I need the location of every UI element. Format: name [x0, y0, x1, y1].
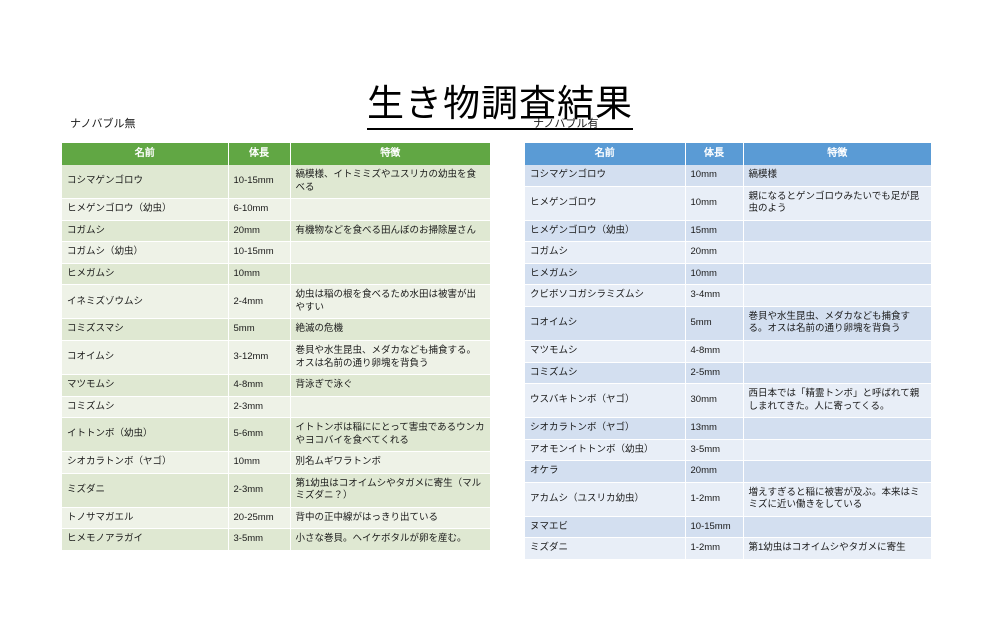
table-head: 名前 体長 特徴	[62, 143, 490, 165]
cell-feature: 増えすぎると稲に被害が及ぶ。本来はミミズに近い働きをしている	[743, 482, 931, 516]
column-header-size: 体長	[228, 143, 290, 165]
survey-table-with-nanobubble: 名前 体長 特徴 コシマゲンゴロウ10mm縞模様ヒメゲンゴロウ10mm親になると…	[525, 143, 931, 560]
column-header-feature: 特徴	[743, 143, 931, 165]
cell-size: 10mm	[685, 165, 743, 186]
cell-size: 10mm	[685, 186, 743, 220]
cell-name: ウスバキトンボ（ヤゴ）	[525, 384, 685, 418]
cell-name: クビボソコガシラミズムシ	[525, 285, 685, 307]
table-row: ヒメガムシ10mm	[525, 263, 931, 285]
cell-size: 13mm	[685, 418, 743, 440]
cell-feature: 西日本では「精霊トンボ」と呼ばれて親しまれてきた。人に寄ってくる。	[743, 384, 931, 418]
cell-size: 3-5mm	[685, 439, 743, 461]
table-row: ヒメゲンゴロウ（幼虫）6-10mm	[62, 199, 490, 221]
cell-size: 10-15mm	[685, 516, 743, 538]
column-header-name: 名前	[62, 143, 228, 165]
column-header-name: 名前	[525, 143, 685, 165]
cell-feature: 背泳ぎで泳ぐ	[290, 375, 490, 397]
cell-size: 10mm	[228, 452, 290, 474]
cell-size: 1-2mm	[685, 538, 743, 560]
cell-name: コオイムシ	[525, 306, 685, 340]
cell-name: コシマゲンゴロウ	[62, 165, 228, 199]
cell-name: シオカラトンボ（ヤゴ）	[62, 452, 228, 474]
cell-size: 20mm	[685, 242, 743, 264]
cell-size: 2-3mm	[228, 473, 290, 507]
cell-name: コシマゲンゴロウ	[525, 165, 685, 186]
table-row: イネミズゾウムシ2-4mm幼虫は稲の根を食べるため水田は被害が出やすい	[62, 285, 490, 319]
table-row: オケラ20mm	[525, 461, 931, 483]
cell-size: 20mm	[685, 461, 743, 483]
cell-size: 10mm	[228, 263, 290, 285]
cell-feature	[743, 461, 931, 483]
cell-name: コガムシ	[62, 220, 228, 242]
cell-name: コミズスマシ	[62, 319, 228, 341]
cell-size: 5-6mm	[228, 418, 290, 452]
table-row: マツモムシ4-8mm背泳ぎで泳ぐ	[62, 375, 490, 397]
cell-size: 5mm	[685, 306, 743, 340]
cell-feature	[290, 242, 490, 264]
cell-feature	[743, 285, 931, 307]
slide-canvas: 生き物調査結果 ナノバブル無 名前 体長 特徴 コシマゲンゴロウ10-15mm縞…	[0, 0, 1000, 620]
cell-size: 2-5mm	[685, 362, 743, 384]
cell-feature	[743, 242, 931, 264]
cell-size: 5mm	[228, 319, 290, 341]
table-row: トノサマガエル20-25mm背中の正中線がはっきり出ている	[62, 507, 490, 529]
cell-name: コオイムシ	[62, 340, 228, 374]
cell-size: 6-10mm	[228, 199, 290, 221]
cell-name: イトトンボ（幼虫）	[62, 418, 228, 452]
cell-name: コミズムシ	[525, 362, 685, 384]
cell-size: 20mm	[228, 220, 290, 242]
cell-name: コガムシ	[525, 242, 685, 264]
cell-feature: 第1幼虫はコオイムシやタガメに寄生	[743, 538, 931, 560]
cell-feature: 背中の正中線がはっきり出ている	[290, 507, 490, 529]
cell-feature: 巻貝や水生昆虫、メダカなども捕食する。オスは名前の通り卵塊を背負う	[290, 340, 490, 374]
cell-feature: 絶滅の危機	[290, 319, 490, 341]
cell-name: ヒメガムシ	[525, 263, 685, 285]
cell-feature: 巻貝や水生昆虫、メダカなども捕食する。オスは名前の通り卵塊を背負う	[743, 306, 931, 340]
table-row: ヒメモノアラガイ3-5mm小さな巻貝。ヘイケボタルが卵を産む。	[62, 529, 490, 551]
cell-feature	[290, 396, 490, 418]
cell-feature	[743, 340, 931, 362]
cell-name: ヒメモノアラガイ	[62, 529, 228, 551]
column-header-size: 体長	[685, 143, 743, 165]
cell-size: 4-8mm	[228, 375, 290, 397]
cell-feature: 親になるとゲンゴロウみたいでも足が昆虫のよう	[743, 186, 931, 220]
cell-feature	[743, 263, 931, 285]
table-header-row: 名前 体長 特徴	[62, 143, 490, 165]
cell-feature: 第1幼虫はコオイムシやタガメに寄生（マルミズダニ？）	[290, 473, 490, 507]
table-block-with-nanobubble: ナノバブル有 名前 体長 特徴 コシマゲンゴロウ10mm縞模様ヒメゲンゴロウ10…	[525, 118, 931, 560]
cell-feature	[743, 439, 931, 461]
cell-size: 4-8mm	[685, 340, 743, 362]
cell-feature	[743, 362, 931, 384]
cell-name: オケラ	[525, 461, 685, 483]
cell-size: 20-25mm	[228, 507, 290, 529]
table-label-with-nanobubble: ナノバブル有	[533, 118, 931, 131]
cell-size: 2-4mm	[228, 285, 290, 319]
cell-name: ヒメゲンゴロウ（幼虫）	[525, 220, 685, 242]
table-row: コガムシ（幼虫）10-15mm	[62, 242, 490, 264]
table-row: コミズムシ2-5mm	[525, 362, 931, 384]
cell-feature: 小さな巻貝。ヘイケボタルが卵を産む。	[290, 529, 490, 551]
cell-feature	[290, 263, 490, 285]
cell-size: 30mm	[685, 384, 743, 418]
table-row: コシマゲンゴロウ10-15mm縞模様、イトミミズやユスリカの幼虫を食べる	[62, 165, 490, 199]
table-row: ヒメゲンゴロウ（幼虫）15mm	[525, 220, 931, 242]
cell-name: ヌマエビ	[525, 516, 685, 538]
cell-feature: 有機物などを食べる田んぼのお掃除屋さん	[290, 220, 490, 242]
cell-name: トノサマガエル	[62, 507, 228, 529]
table-body: コシマゲンゴロウ10mm縞模様ヒメゲンゴロウ10mm親になるとゲンゴロウみたいで…	[525, 165, 931, 559]
table-row: マツモムシ4-8mm	[525, 340, 931, 362]
table-row: コミズムシ2-3mm	[62, 396, 490, 418]
cell-size: 10-15mm	[228, 242, 290, 264]
cell-name: ヒメガムシ	[62, 263, 228, 285]
cell-name: マツモムシ	[62, 375, 228, 397]
cell-feature: 縞模様、イトミミズやユスリカの幼虫を食べる	[290, 165, 490, 199]
table-block-no-nanobubble: ナノバブル無 名前 体長 特徴 コシマゲンゴロウ10-15mm縞模様、イトミミズ…	[62, 118, 490, 551]
cell-size: 3-4mm	[685, 285, 743, 307]
cell-size: 3-5mm	[228, 529, 290, 551]
cell-feature	[743, 220, 931, 242]
table-row: ヒメゲンゴロウ10mm親になるとゲンゴロウみたいでも足が昆虫のよう	[525, 186, 931, 220]
cell-name: シオカラトンボ（ヤゴ）	[525, 418, 685, 440]
table-row: コオイムシ3-12mm巻貝や水生昆虫、メダカなども捕食する。オスは名前の通り卵塊…	[62, 340, 490, 374]
cell-name: ミズダニ	[525, 538, 685, 560]
cell-name: ヒメゲンゴロウ（幼虫）	[62, 199, 228, 221]
table-label-no-nanobubble: ナノバブル無	[70, 118, 490, 131]
column-header-feature: 特徴	[290, 143, 490, 165]
table-row: コミズスマシ5mm絶滅の危機	[62, 319, 490, 341]
table-row: ウスバキトンボ（ヤゴ）30mm西日本では「精霊トンボ」と呼ばれて親しまれてきた。…	[525, 384, 931, 418]
cell-name: アカムシ（ユスリカ幼虫）	[525, 482, 685, 516]
cell-name: マツモムシ	[525, 340, 685, 362]
cell-name: コガムシ（幼虫）	[62, 242, 228, 264]
table-header-row: 名前 体長 特徴	[525, 143, 931, 165]
cell-feature	[743, 516, 931, 538]
cell-size: 10-15mm	[228, 165, 290, 199]
table-row: ヒメガムシ10mm	[62, 263, 490, 285]
cell-name: ミズダニ	[62, 473, 228, 507]
cell-feature	[743, 418, 931, 440]
table-head: 名前 体長 特徴	[525, 143, 931, 165]
table-row: イトトンボ（幼虫）5-6mmイトトンボは稲ににとって害虫であるウンカやヨコバイを…	[62, 418, 490, 452]
table-row: コオイムシ5mm巻貝や水生昆虫、メダカなども捕食する。オスは名前の通り卵塊を背負…	[525, 306, 931, 340]
cell-size: 3-12mm	[228, 340, 290, 374]
table-row: アオモンイトトンボ（幼虫）3-5mm	[525, 439, 931, 461]
cell-name: イネミズゾウムシ	[62, 285, 228, 319]
table-row: クビボソコガシラミズムシ3-4mm	[525, 285, 931, 307]
cell-name: アオモンイトトンボ（幼虫）	[525, 439, 685, 461]
cell-size: 2-3mm	[228, 396, 290, 418]
cell-size: 1-2mm	[685, 482, 743, 516]
cell-feature: 別名ムギワラトンボ	[290, 452, 490, 474]
table-row: ミズダニ2-3mm第1幼虫はコオイムシやタガメに寄生（マルミズダニ？）	[62, 473, 490, 507]
cell-size: 15mm	[685, 220, 743, 242]
table-row: アカムシ（ユスリカ幼虫）1-2mm増えすぎると稲に被害が及ぶ。本来はミミズに近い…	[525, 482, 931, 516]
table-row: ミズダニ1-2mm第1幼虫はコオイムシやタガメに寄生	[525, 538, 931, 560]
cell-feature: 幼虫は稲の根を食べるため水田は被害が出やすい	[290, 285, 490, 319]
cell-size: 10mm	[685, 263, 743, 285]
table-row: シオカラトンボ（ヤゴ）10mm別名ムギワラトンボ	[62, 452, 490, 474]
table-row: コシマゲンゴロウ10mm縞模様	[525, 165, 931, 186]
table-row: ヌマエビ10-15mm	[525, 516, 931, 538]
table-body: コシマゲンゴロウ10-15mm縞模様、イトミミズやユスリカの幼虫を食べるヒメゲン…	[62, 165, 490, 550]
cell-name: ヒメゲンゴロウ	[525, 186, 685, 220]
table-row: シオカラトンボ（ヤゴ）13mm	[525, 418, 931, 440]
cell-feature: イトトンボは稲ににとって害虫であるウンカやヨコバイを食べてくれる	[290, 418, 490, 452]
survey-table-no-nanobubble: 名前 体長 特徴 コシマゲンゴロウ10-15mm縞模様、イトミミズやユスリカの幼…	[62, 143, 490, 551]
table-row: コガムシ20mm	[525, 242, 931, 264]
cell-feature	[290, 199, 490, 221]
cell-feature: 縞模様	[743, 165, 931, 186]
table-row: コガムシ20mm有機物などを食べる田んぼのお掃除屋さん	[62, 220, 490, 242]
cell-name: コミズムシ	[62, 396, 228, 418]
